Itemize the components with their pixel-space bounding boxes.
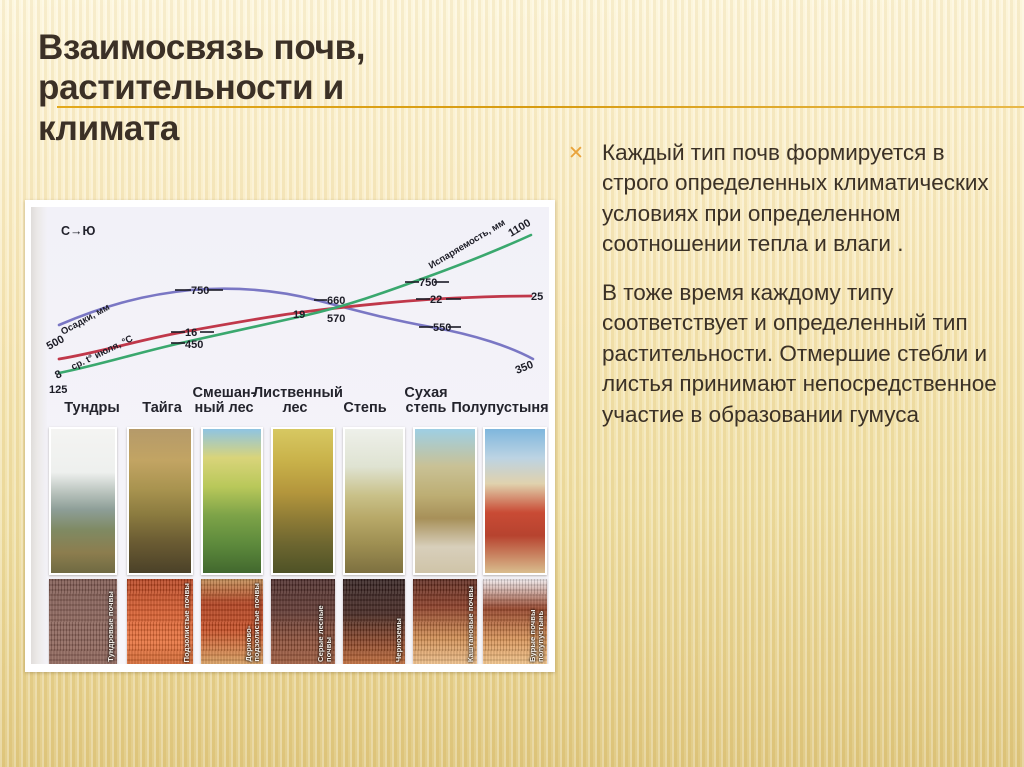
soil-label-grey-forest: Серые лесные почвы [317, 580, 333, 662]
label-precip-350: 350 [514, 359, 536, 377]
bullet-item: ✕ Каждый тип почв формируется в строго о… [568, 138, 1016, 260]
photo-mixed-forest [201, 427, 263, 575]
label-temp-8: 8 [53, 368, 64, 381]
soil-label-brown-semidesert: Бурые почвы полупустынь [529, 580, 545, 662]
label-temp-25: 25 [531, 291, 543, 303]
label-temp-name: ср. t° июля, °C [69, 333, 134, 372]
paragraph-2: В тоже время каждому типу соответствует … [602, 278, 1016, 430]
soil-column-sod-podzolic: Дерново- подзолистые почвы [201, 579, 263, 664]
page-title-line-2: климата [38, 109, 598, 149]
label-precip-750: 750 [191, 285, 209, 297]
landscape-photo-strip [31, 427, 549, 577]
soil-profile-row: Тундровые почвы Подзолистые почвы Дернов… [31, 579, 549, 664]
soil-column-podzolic: Подзолистые почвы [127, 579, 193, 664]
soil-label-tundra: Тундровые почвы [107, 591, 115, 662]
bullet-item: В тоже время каждому типу соответствует … [568, 278, 1016, 430]
bullet-cross-icon: ✕ [568, 138, 602, 165]
compass-label: С→Ю [61, 224, 96, 238]
label-evap-750: 750 [419, 277, 437, 289]
zone-label-row: Тундры Тайга Смешан- ный лес Лиственный … [31, 385, 549, 427]
label-evap-450: 450 [185, 339, 203, 351]
series-evaporation-curve [59, 235, 531, 373]
climate-line-chart: С→Ю [31, 207, 549, 397]
label-temp-22: 22 [430, 294, 442, 306]
photo-taiga [127, 427, 193, 575]
soil-label-chernozem: Черноземы [395, 618, 403, 662]
page-title: Взаимосвязь почв, растительности и клима… [38, 28, 598, 149]
title-divider-rule [57, 106, 1024, 108]
soil-label-chestnut: Каштановые почвы [467, 586, 475, 662]
zone-label-semidesert: Полупустыня [451, 401, 549, 416]
paragraph-1: Каждый тип почв формируется в строго опр… [602, 138, 1016, 260]
photo-semidesert [483, 427, 547, 575]
zone-label-broadleaf-forest: Лиственный лес [253, 386, 337, 416]
label-precip-570: 570 [327, 313, 345, 325]
label-temp-19: 19 [293, 309, 305, 321]
soil-column-chernozem: Черноземы [343, 579, 405, 664]
body-text-column: ✕ Каждый тип почв формируется в строго о… [568, 138, 1016, 448]
soil-column-chestnut: Каштановые почвы [413, 579, 477, 664]
label-precip-name: Осадки, мм [59, 302, 112, 338]
photo-dry-steppe [413, 427, 477, 575]
label-precip-550: 550 [433, 322, 451, 334]
diagram-panel: С→Ю [25, 200, 555, 672]
label-evap-name: Испаряемость, мм [427, 217, 507, 271]
diagram-panel-inner: С→Ю [31, 207, 549, 664]
label-temp-16: 16 [185, 327, 197, 339]
photo-tundra [49, 427, 117, 575]
photo-broadleaf-forest [271, 427, 335, 575]
soil-label-podzolic: Подзолистые почвы [183, 583, 191, 663]
soil-column-grey-forest: Серые лесные почвы [271, 579, 335, 664]
soil-column-brown-semidesert: Бурые почвы полупустынь [483, 579, 547, 664]
photo-steppe [343, 427, 405, 575]
page-title-line-1: Взаимосвязь почв, растительности и [38, 28, 598, 109]
soil-label-sod-podzolic: Дерново- подзолистые почвы [245, 583, 261, 662]
soil-column-tundra: Тундровые почвы [49, 579, 117, 664]
label-precip-660: 660 [327, 295, 345, 307]
